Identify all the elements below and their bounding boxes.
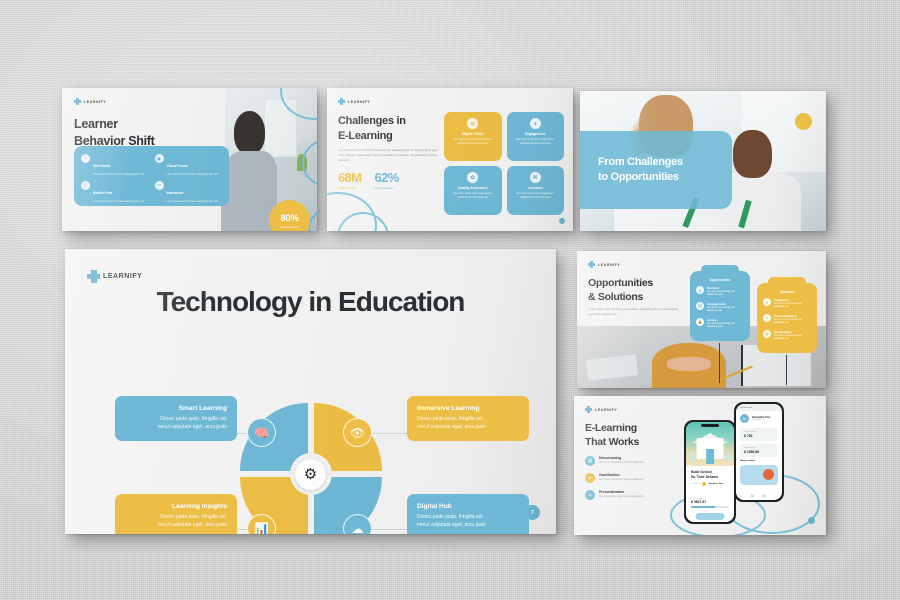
- learnify-logo-icon: [74, 98, 81, 105]
- logo-text: LEARNIFY: [103, 273, 142, 280]
- slide-from-challenges-to-opportunities[interactable]: From Challenges to Opportunities: [580, 91, 826, 231]
- stat-value: 68M: [338, 170, 362, 185]
- solution-item[interactable]: ☺ Personalization Nec lorem consectetuer…: [763, 314, 811, 326]
- logo[interactable]: LEARNIFY: [585, 406, 617, 413]
- creator-name: Jonathan Doe: [708, 483, 722, 485]
- avatar: [702, 482, 706, 486]
- card-desc: Nec lorem ipsum dolor consectetuer adipi…: [449, 138, 497, 145]
- slide6-feature-list: ▤ Microlearning Nec risus consectetuer l…: [585, 456, 680, 507]
- solution-item[interactable]: ✦ Integration Nec lorem consectetuer eli…: [763, 298, 811, 310]
- info-card-desc: Donec pede justo, fringilla vel, necul v…: [417, 415, 519, 432]
- bulb-icon: ◕: [585, 473, 595, 483]
- learnify-logo-icon: [585, 406, 592, 413]
- item-title: Microlearning: [599, 456, 644, 460]
- info-card-immersive-learning[interactable]: Immersive Learning Donec pede justo, fri…: [407, 396, 529, 441]
- card-title: Quality Assurance: [449, 186, 497, 190]
- info-card-title: Immersive Learning: [417, 405, 519, 412]
- feature-desc: Lorem ipsum dolor sit amet adipiscing el…: [167, 173, 218, 177]
- phone1-headline: Build School for Their Dreams: [691, 470, 729, 479]
- avatar: ST: [740, 414, 749, 423]
- pin-stem: [719, 343, 720, 383]
- info-card-desc: Donec pede justo, fringilla vel, necul v…: [125, 513, 227, 530]
- card-desc: Nec lorem ipsum dolor consectetuer adipi…: [512, 138, 560, 145]
- opportunity-item[interactable]: ▤ Engagement Nec lorem consectetuer elit…: [696, 302, 744, 314]
- decorative-dot: [795, 113, 812, 130]
- logo-text: LEARNIFY: [84, 100, 106, 104]
- challenge-card[interactable]: ⌘ Inclusion Nec lorem ipsum dolor consec…: [507, 166, 565, 215]
- phone2-nav-bar[interactable]: ⌂ ▤ ▦ ☺: [736, 494, 782, 498]
- panel-tab: [768, 277, 806, 287]
- card-label: Charge today: [744, 431, 774, 433]
- phone2-balance-card[interactable]: Total balance $ 1590,89: [740, 444, 778, 457]
- item-desc: Nec risus consectetuer lorem ip adipisci…: [599, 478, 644, 482]
- item-title: Universality: [774, 330, 811, 334]
- solutions-heading: Solutions: [763, 288, 811, 298]
- item-title: Integration: [774, 298, 811, 302]
- slide-opportunities-and-solutions[interactable]: LEARNIFY Opportunities & Solutions Lorem…: [577, 251, 826, 388]
- info-card-smart-learning[interactable]: Smart Learning Donec pede justo, fringil…: [115, 396, 237, 441]
- progress-bar: [691, 506, 729, 508]
- info-card-digital-hub[interactable]: Digital Hub Donec pede justo, fringilla …: [407, 494, 529, 534]
- learnify-logo-icon: [338, 98, 345, 105]
- phone2-promo-card[interactable]: [740, 465, 778, 485]
- badge-value: 80%: [280, 213, 298, 224]
- slide-learner-behavior-shift[interactable]: LEARNIFY Learner Behavior Shift 80% Cons…: [62, 88, 317, 231]
- phone2-status-bar: Good Person: [736, 404, 782, 411]
- card-desc: Nec lorem ipsum dolor consectetuer adipi…: [449, 192, 497, 199]
- card-title: Engagement: [512, 132, 560, 136]
- feature-item[interactable]: ◔ Self-Paced Lorem ipsum dolor sit amet …: [81, 154, 149, 177]
- globe-icon: ◍: [763, 330, 771, 338]
- feature-desc: Lorem ipsum dolor sit amet adipiscing el…: [93, 173, 144, 177]
- slide6-page-dot: [808, 517, 815, 524]
- user-icon: ☺: [763, 314, 771, 322]
- vr-headset-icon[interactable]: 👁: [343, 418, 372, 447]
- feature-desc: Lorem ipsum dolor sit amet adipiscing el…: [167, 200, 218, 204]
- phone1-content: Build School for Their Dreams Create by …: [691, 470, 729, 486]
- puzzle-icon: ✦: [763, 298, 771, 306]
- slide5-body: Lorem ipsum dolor sit amet, consectetuer…: [588, 307, 678, 317]
- donut-hub: ⚙: [290, 453, 332, 495]
- stat-label: Low Retention: [375, 186, 399, 190]
- slide1-feature-panel: ◔ Self-Paced Lorem ipsum dolor sit amet …: [74, 146, 229, 206]
- feature-title: Mobile First: [93, 191, 112, 195]
- info-card-desc: Donec pede justo, fringilla vel, necul v…: [417, 513, 519, 530]
- wallet-icon[interactable]: ▤: [751, 494, 754, 498]
- slide-elearning-that-works[interactable]: LEARNIFY E-Learning That Works ▤ Microle…: [574, 396, 826, 535]
- logo[interactable]: LEARNIFY: [74, 98, 106, 105]
- slide2-page-dot: [559, 218, 565, 224]
- pin-stem: [786, 355, 787, 385]
- solutions-panel: Solutions ✦ Integration Nec lorem consec…: [757, 283, 817, 353]
- panel-tab: [701, 265, 739, 275]
- item-desc: Nec lorem consectetuer elit adipiscing e…: [774, 335, 811, 342]
- info-card-title: Learning Insights: [125, 503, 227, 510]
- item-title: Demand: [707, 286, 744, 290]
- logo-text: LEARNIFY: [598, 263, 620, 267]
- learnify-logo-icon: [87, 270, 100, 283]
- phone-mockup-campaign[interactable]: Build School for Their Dreams Create by …: [684, 420, 736, 524]
- card-value: $ 792: [744, 434, 774, 438]
- feature-title: Visual Focus: [167, 164, 188, 168]
- logo[interactable]: LEARNIFY: [338, 98, 370, 105]
- decorative-swirl: [337, 212, 389, 231]
- badge-icon: ✿: [467, 172, 478, 183]
- brain-icon[interactable]: 🧠: [247, 418, 276, 447]
- badge-caption: Consumption: [280, 225, 299, 229]
- feature-item-personalization[interactable]: ☺ Personalization Nec risus consectetuer…: [585, 490, 680, 500]
- challenge-card[interactable]: ◍ Digital Divide Nec lorem ipsum dolor c…: [444, 112, 502, 161]
- opportunities-heading: Opportunities: [696, 276, 744, 286]
- school-illustration: [686, 422, 734, 466]
- chat-icon: ▭: [155, 181, 164, 190]
- stat-value: 62%: [375, 170, 399, 185]
- slide2-body: Lorem ipsum dolor sit amet, consectetuer…: [338, 148, 438, 163]
- mobile-icon: ▯: [81, 181, 90, 190]
- slide2-stats: 68M Unified Access 62% Low Retention: [338, 170, 399, 190]
- info-card-title: Digital Hub: [417, 503, 519, 510]
- globe-icon: ◍: [467, 118, 478, 129]
- item-desc: Nec risus consectetuer lorem ip adipisci…: [599, 495, 644, 499]
- feature-title: Interactive: [167, 191, 184, 195]
- chat-icon: ▤: [696, 302, 704, 310]
- item-title: Engagement: [707, 302, 744, 306]
- phone2-user-sub: Verification ID: [752, 419, 770, 421]
- gear-cycle-icon: ⚙: [295, 459, 326, 490]
- slide2-title: Challenges in E-Learning: [338, 114, 406, 144]
- info-card-desc: Donec pede justo, fringilla vel, necul v…: [125, 415, 227, 432]
- phone-notch: [701, 424, 719, 427]
- promo-graphic: [763, 469, 774, 480]
- item-title: Access: [707, 318, 744, 322]
- total-value: $ 9827,67: [691, 500, 729, 504]
- cards-icon[interactable]: ▦: [762, 494, 765, 498]
- opportunities-panel: Opportunities ◎ Demand Nec lorem consect…: [690, 271, 750, 341]
- donate-now-button[interactable]: [696, 513, 725, 520]
- eye-icon: ◉: [155, 154, 164, 163]
- logo[interactable]: LEARNIFY: [87, 270, 142, 283]
- accessibility-icon: ⌘: [530, 172, 541, 183]
- phone2-status-text: Good Person: [740, 407, 752, 409]
- stat-low-retention: 62% Low Retention: [375, 170, 399, 190]
- learnify-logo-icon: [588, 261, 595, 268]
- target-icon: ◎: [696, 286, 704, 294]
- lock-icon: 🔒: [696, 318, 704, 326]
- bulb-icon: ◕: [530, 118, 541, 129]
- card-value: $ 1590,89: [744, 450, 774, 454]
- item-desc: Nec lorem consectetuer elit adipiscing e…: [707, 323, 744, 330]
- feature-desc: Lorem ipsum dolor sit amet adipiscing el…: [93, 200, 144, 204]
- logo-text: LEARNIFY: [348, 100, 370, 104]
- card-title: Inclusion: [512, 186, 560, 190]
- item-desc: Nec lorem consectetuer elit adipiscing e…: [774, 319, 811, 326]
- feature-item-gamification[interactable]: ◕ Gamification Nec risus consectetuer lo…: [585, 473, 680, 483]
- card-desc: Nec lorem ipsum dolor consectetuer adipi…: [512, 192, 560, 199]
- phone1-creator-row: Create by Jonathan Doe: [691, 482, 729, 486]
- logo[interactable]: LEARNIFY: [588, 261, 620, 268]
- logo-text: LEARNIFY: [595, 408, 617, 412]
- creator-label: Create by: [691, 483, 700, 485]
- page-title: Technology in Education: [65, 286, 556, 318]
- slide3-title: From Challenges to Opportunities: [598, 155, 683, 185]
- clock-icon: ◔: [81, 154, 90, 163]
- user-icon: ☺: [585, 490, 595, 500]
- feature-item[interactable]: ▭ Interactive Lorem ipsum dolor sit amet…: [155, 181, 223, 204]
- feature-item[interactable]: ◉ Visual Focus Lorem ipsum dolor sit ame…: [155, 154, 223, 177]
- phone-mockup-wallet[interactable]: Good Person ST Samantha Tosi Verificatio…: [734, 402, 784, 502]
- slide3-title-band: From Challenges to Opportunities: [580, 131, 732, 209]
- slide2-cards: ◍ Digital Divide Nec lorem ipsum dolor c…: [444, 112, 564, 215]
- item-title: Gamification: [599, 473, 644, 477]
- solution-item[interactable]: ◍ Universality Nec lorem consectetuer el…: [763, 330, 811, 342]
- item-desc: Nec risus consectetuer lorem ip adipisci…: [599, 461, 644, 465]
- slide-challenges-in-elearning[interactable]: LEARNIFY Challenges in E-Learning Lorem …: [327, 88, 573, 231]
- decorative-swirl: [327, 192, 377, 231]
- profile-icon[interactable]: ☺: [774, 494, 778, 498]
- stat-label: Unified Access: [338, 186, 362, 190]
- item-desc: Nec lorem consectetuer elit adipiscing e…: [707, 307, 744, 314]
- opportunity-item[interactable]: 🔒 Access Nec lorem consectetuer elit adi…: [696, 318, 744, 330]
- card-title: Digital Divide: [449, 132, 497, 136]
- item-title: Personalization: [774, 314, 811, 318]
- challenge-card[interactable]: ✿ Quality Assurance Nec lorem ipsum dolo…: [444, 166, 502, 215]
- phone1-total: Total Donate : $ 9827,67: [691, 498, 729, 508]
- stat-unified-access: 68M Unified Access: [338, 170, 362, 190]
- slide1-title: Learner Behavior Shift: [74, 116, 155, 149]
- phone2-profile[interactable]: ST Samantha Tosi Verification ID: [740, 414, 778, 423]
- item-desc: Nec lorem consectetuer elit adipiscing e…: [774, 303, 811, 310]
- feature-item[interactable]: ▯ Mobile First Lorem ipsum dolor sit ame…: [81, 181, 149, 204]
- layers-icon: ▤: [585, 456, 595, 466]
- info-card-learning-insights[interactable]: Learning Insights Donec pede justo, frin…: [115, 494, 237, 534]
- challenge-card[interactable]: ◕ Engagement Nec lorem ipsum dolor conse…: [507, 112, 565, 161]
- feature-item-microlearning[interactable]: ▤ Microlearning Nec risus consectetuer l…: [585, 456, 680, 466]
- feature-title: Self-Paced: [93, 164, 110, 168]
- card-label: Total balance: [744, 447, 774, 449]
- slide-technology-in-education[interactable]: LEARNIFY Technology in Education ⚙ 🧠 👁 📊…: [65, 249, 556, 534]
- phone2-charge-card[interactable]: Charge today $ 792: [740, 428, 778, 441]
- slide6-title: E-Learning That Works: [585, 421, 639, 450]
- home-icon[interactable]: ⌂: [740, 494, 742, 498]
- phone2-section-title: Monty number: [740, 460, 778, 462]
- slide5-title: Opportunities & Solutions: [588, 276, 653, 305]
- item-desc: Nec lorem consectetuer elit adipiscing e…: [707, 291, 744, 298]
- opportunity-item[interactable]: ◎ Demand Nec lorem consectetuer elit adi…: [696, 286, 744, 298]
- info-card-title: Smart Learning: [125, 405, 227, 412]
- item-title: Personalization: [599, 490, 644, 494]
